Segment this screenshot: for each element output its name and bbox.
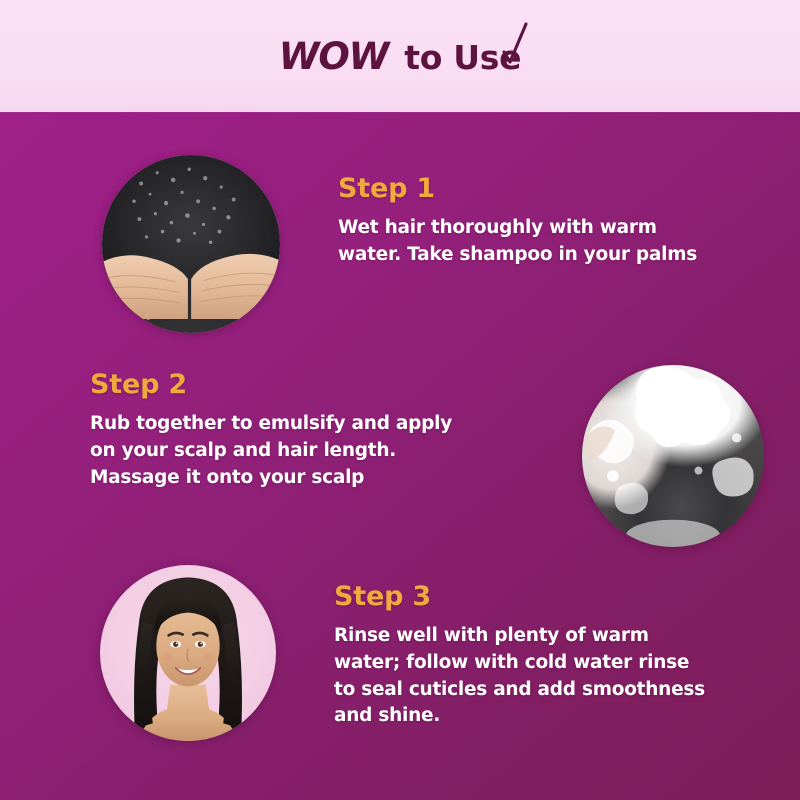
step-row-1: Step 1 Wet hair thoroughly with warm wat… — [0, 155, 800, 333]
wet-hair-photo — [102, 155, 280, 333]
step-1-line-2: water. Take shampoo in your palms — [338, 242, 697, 269]
step-3-text: Step 3 Rinse well with plenty of warm wa… — [334, 565, 705, 730]
hands-illustration-icon — [102, 239, 280, 319]
step-3-line-2: water; follow with cold water rinse — [334, 650, 705, 677]
step-3-image-wrap — [100, 565, 276, 741]
step-2-line-1: Rub together to emulsify and apply — [90, 411, 452, 438]
step-1-image-wrap — [102, 155, 280, 333]
foam-lather-icon — [582, 365, 764, 547]
brand-logo-text: WOW — [279, 35, 392, 78]
step-2-body: Rub together to emulsify and apply on yo… — [90, 411, 452, 491]
how-to-use-poster: WOW to Use — [0, 0, 800, 800]
step-row-2: Step 2 Rub together to emulsify and appl… — [0, 365, 800, 547]
smiling-woman-illustration-icon — [100, 565, 276, 741]
step-3-body: Rinse well with plenty of warm water; fo… — [334, 623, 705, 730]
step-2-text: Step 2 Rub together to emulsify and appl… — [90, 365, 452, 491]
page-title-rest: to Use — [404, 38, 521, 77]
page-title: WOW to Use — [0, 0, 800, 112]
step-3-line-4: and shine. — [334, 703, 705, 730]
step-3-line-3: to seal cuticles and add smoothness — [334, 677, 705, 704]
step-1-line-1: Wet hair thoroughly with warm — [338, 215, 697, 242]
step-row-3: Step 3 Rinse well with plenty of warm wa… — [0, 565, 800, 741]
smiling-model-photo — [100, 565, 276, 741]
step-1-body: Wet hair thoroughly with warm water. Tak… — [338, 215, 697, 269]
wordmark: WOW to Use — [279, 35, 521, 78]
step-1-label: Step 1 — [338, 175, 697, 202]
step-3-label: Step 3 — [334, 583, 705, 610]
step-2-label: Step 2 — [90, 371, 452, 398]
step-3-line-1: Rinse well with plenty of warm — [334, 623, 705, 650]
step-2-line-3: Massage it onto your scalp — [90, 465, 452, 492]
step-2-image-wrap — [582, 365, 764, 547]
step-2-line-2: on your scalp and hair length. — [90, 438, 452, 465]
lather-hair-photo — [582, 365, 764, 547]
step-1-text: Step 1 Wet hair thoroughly with warm wat… — [338, 155, 697, 269]
